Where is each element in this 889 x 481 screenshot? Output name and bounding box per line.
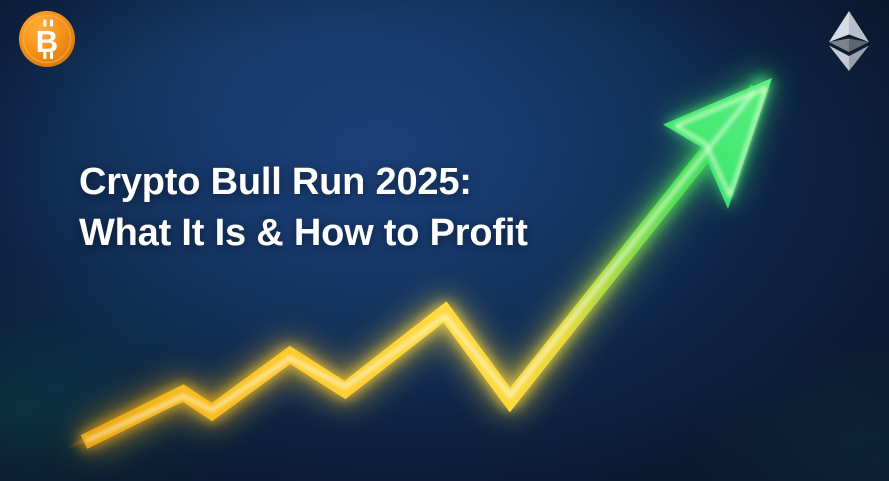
crypto-bull-run-banner: B Crypto Bull Run 2025: What It Is & How… bbox=[0, 0, 889, 481]
headline-line-1: Crypto Bull Run 2025: bbox=[79, 157, 639, 208]
bitcoin-symbol: B bbox=[36, 20, 58, 60]
arrow-line bbox=[84, 89, 757, 442]
bitcoin-icon: B bbox=[17, 9, 77, 69]
ethereum-icon bbox=[818, 7, 880, 75]
ethereum-diamond bbox=[829, 11, 869, 71]
headline-line-2: What It Is & How to Profit bbox=[79, 208, 639, 259]
svg-text:B: B bbox=[36, 24, 58, 59]
page-title: Crypto Bull Run 2025: What It Is & How t… bbox=[79, 157, 639, 259]
